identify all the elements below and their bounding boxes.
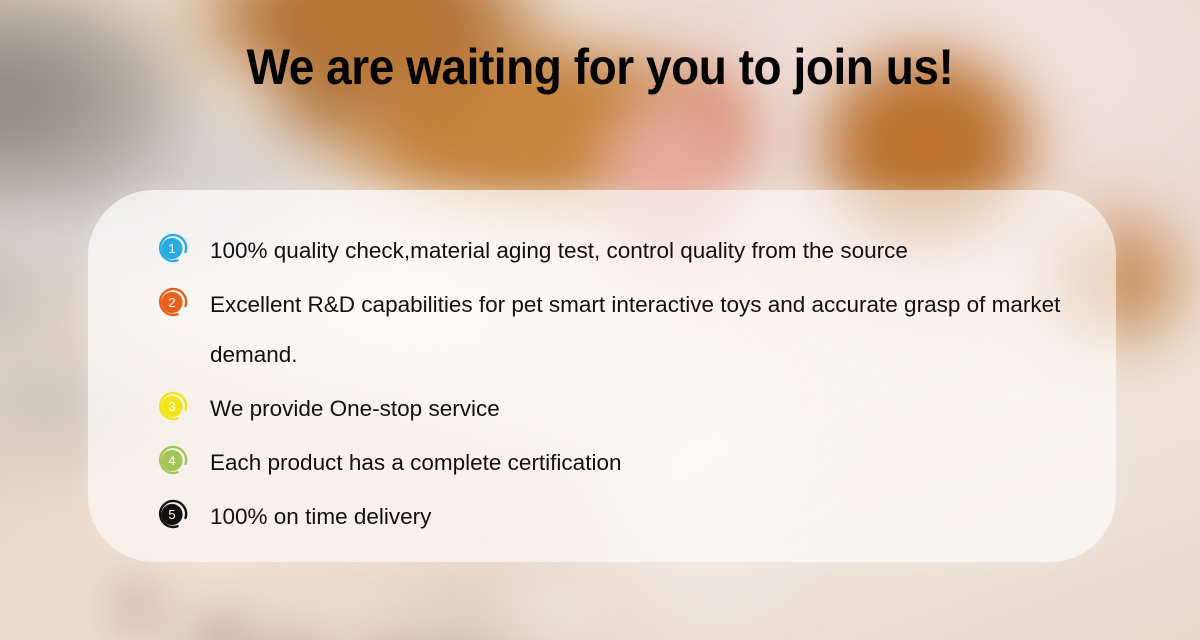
promo-banner: We are waiting for you to join us! 1 100… (0, 0, 1200, 640)
list-item: 2 Excellent R&D capabilities for pet sma… (156, 280, 1086, 380)
svg-text:3: 3 (168, 399, 175, 414)
list-item: 5 100% on time delivery (156, 492, 1086, 542)
svg-text:1: 1 (168, 241, 175, 256)
feature-list: 1 100% quality check,material aging test… (156, 226, 1086, 546)
page-title: We are waiting for you to join us! (48, 38, 1152, 96)
list-item: 1 100% quality check,material aging test… (156, 226, 1086, 276)
list-item-label: We provide One-stop service (210, 384, 500, 434)
list-item-label: 100% quality check,material aging test, … (210, 226, 908, 276)
number-badge-4-icon: 4 (156, 443, 190, 477)
feature-card: 1 100% quality check,material aging test… (88, 190, 1116, 562)
number-badge-5-icon: 5 (156, 497, 190, 531)
list-item: 4 Each product has a complete certificat… (156, 438, 1086, 488)
svg-text:4: 4 (168, 453, 175, 468)
svg-text:2: 2 (168, 295, 175, 310)
number-badge-3-icon: 3 (156, 389, 190, 423)
number-badge-1-icon: 1 (156, 231, 190, 265)
number-badge-2-icon: 2 (156, 285, 190, 319)
svg-text:5: 5 (168, 507, 175, 522)
list-item-label: 100% on time delivery (210, 492, 431, 542)
list-item-label: Excellent R&D capabilities for pet smart… (210, 280, 1086, 380)
list-item: 3 We provide One-stop service (156, 384, 1086, 434)
list-item-label: Each product has a complete certificatio… (210, 438, 621, 488)
